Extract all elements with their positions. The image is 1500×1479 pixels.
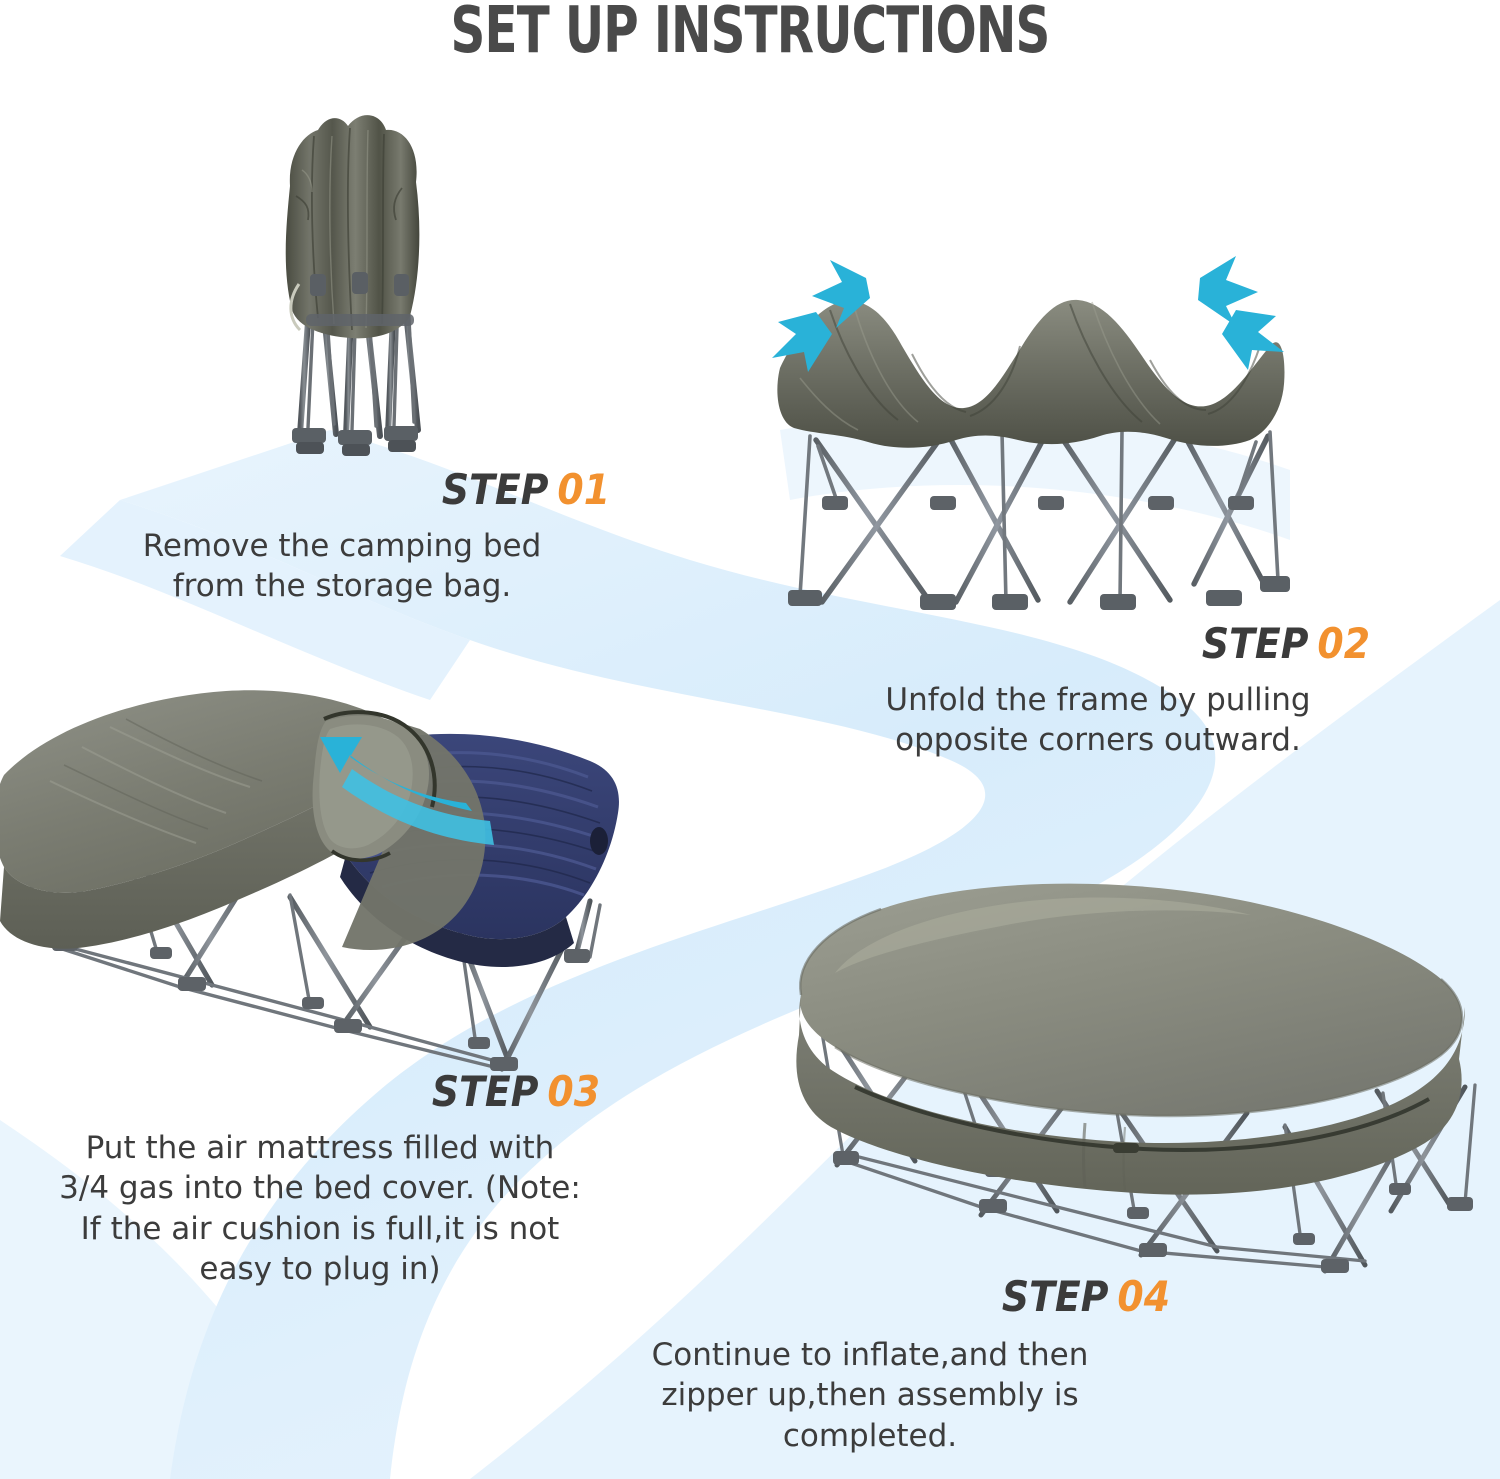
step-word-01: STEP	[442, 465, 549, 514]
step-body-02: Unfold the frame by pulling opposite cor…	[830, 680, 1370, 761]
illustration-air-mattress-into-cover	[0, 655, 650, 1085]
step-block-03: STEP03 Put the air mattress filled with …	[40, 1070, 600, 1289]
step-word-04: STEP	[1002, 1272, 1109, 1321]
instruction-poster: SET UP INSTRUCTIONS	[0, 0, 1500, 1479]
step-heading-03: STEP03	[40, 1070, 600, 1114]
step-word-02: STEP	[1202, 619, 1309, 668]
illustration-completed-camping-bed	[765, 855, 1495, 1285]
page-title: SET UP INSTRUCTIONS	[120, 0, 1380, 68]
step-block-01: STEP01 Remove the camping bed from the s…	[80, 468, 610, 607]
step-heading-02: STEP02	[830, 622, 1370, 666]
illustration-unfolding-bed-frame	[770, 250, 1290, 625]
step-heading-01: STEP01	[80, 468, 610, 512]
illustration-folded-camping-bed	[252, 78, 452, 488]
step-number-02: 02	[1317, 619, 1370, 668]
step-word-03: STEP	[432, 1067, 539, 1116]
step-body-04: Continue to inflate,and then zipper up,t…	[570, 1335, 1170, 1456]
step-number-04: 04	[1117, 1272, 1170, 1321]
step-number-03: 03	[547, 1067, 600, 1116]
step-block-04: STEP04 Continue to inflate,and then zipp…	[570, 1275, 1170, 1456]
step-heading-04: STEP04	[570, 1275, 1170, 1319]
step-block-02: STEP02 Unfold the frame by pulling oppos…	[830, 622, 1370, 761]
step-body-03: Put the air mattress filled with 3/4 gas…	[40, 1128, 600, 1289]
step-number-01: 01	[557, 465, 610, 514]
step-body-01: Remove the camping bed from the storage …	[80, 526, 610, 607]
